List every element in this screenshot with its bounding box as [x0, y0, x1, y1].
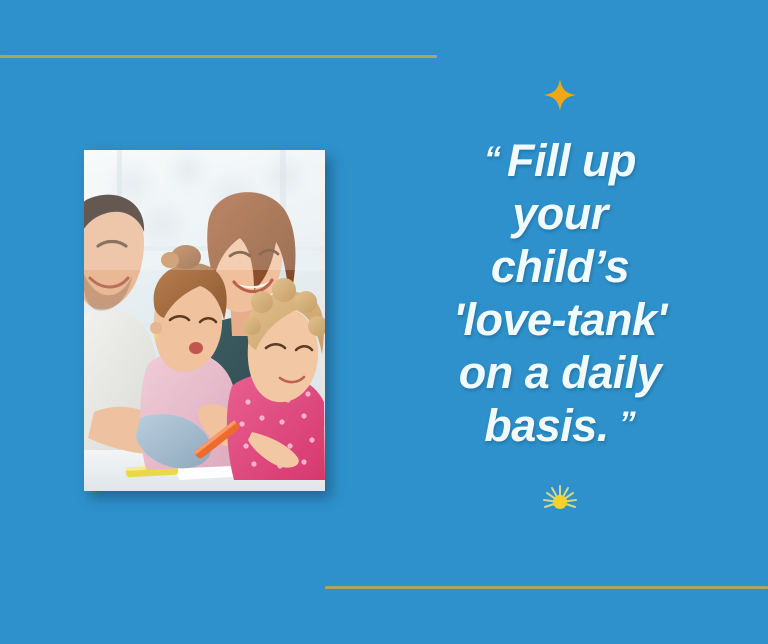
quote-line-6-text: basis.	[484, 400, 609, 451]
quote-line-2: your	[366, 187, 754, 240]
bottom-accent-rule	[325, 586, 768, 589]
quote-line-1-text: Fill up	[507, 135, 636, 186]
close-quote-mark: ”	[619, 405, 636, 443]
family-photo	[84, 150, 325, 491]
sparkle-star-icon	[543, 78, 577, 112]
family-photo-image	[84, 150, 325, 491]
top-accent-rule	[0, 55, 437, 58]
quote-line-4: 'love-tank'	[366, 293, 754, 346]
quote-card: “Fill up your child’s 'love-tank' on a d…	[0, 0, 768, 644]
open-quote-mark: “	[484, 140, 501, 178]
quote-line-5: on a daily	[366, 346, 754, 399]
quote-line-3: child’s	[366, 240, 754, 293]
quote-line-6: basis.”	[366, 399, 754, 452]
quote-line-1: “Fill up	[366, 134, 754, 187]
quote-column: “Fill up your child’s 'love-tank' on a d…	[360, 60, 760, 580]
quote-text: “Fill up your child’s 'love-tank' on a d…	[360, 134, 760, 453]
sun-icon	[542, 483, 578, 513]
